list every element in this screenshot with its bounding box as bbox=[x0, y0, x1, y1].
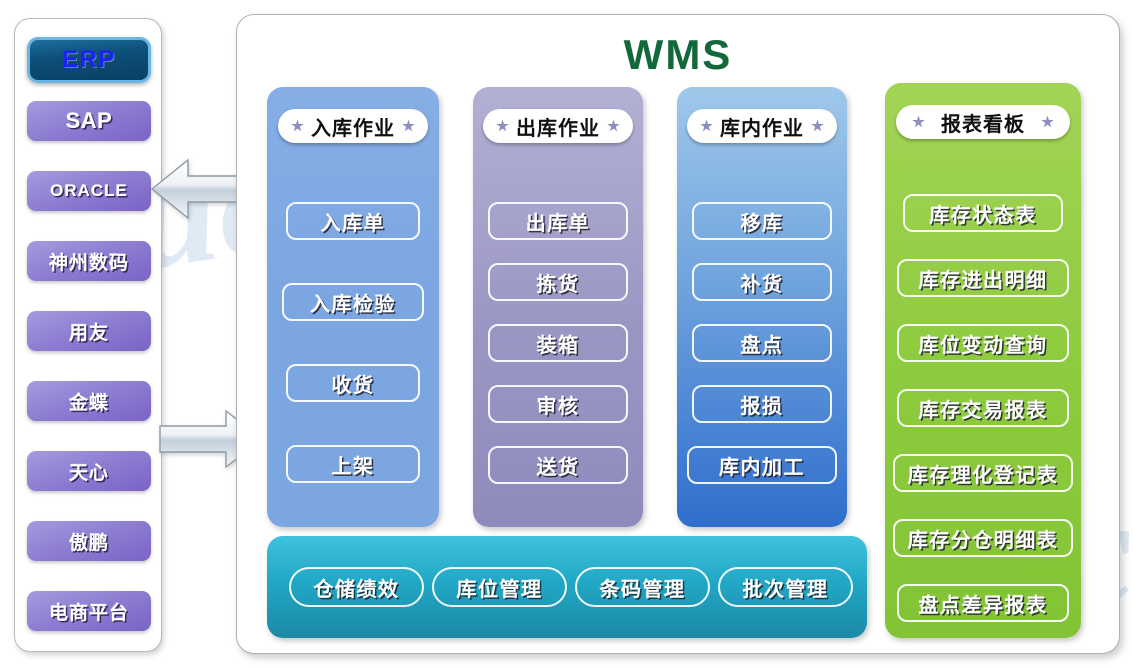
star-icon bbox=[912, 116, 925, 129]
panel-item-internal-0[interactable]: 移库 bbox=[692, 202, 832, 240]
panel-item-report-0[interactable]: 库存状态表 bbox=[903, 194, 1063, 232]
erp-item-2[interactable]: ORACLE bbox=[27, 171, 151, 211]
panel-outbound[interactable]: 出库作业 出库单 拣货 装箱 审核 送货 bbox=[473, 87, 643, 527]
wms-container: WMS 入库作业 入库单 入库检验 收货 上架 出库作业 出库单 拣货 装箱 审… bbox=[236, 14, 1120, 654]
erp-item-5[interactable]: 金蝶 bbox=[27, 381, 151, 421]
panel-item-outbound-1[interactable]: 拣货 bbox=[488, 263, 628, 301]
bottom-item-0[interactable]: 仓储绩效 bbox=[289, 567, 424, 607]
bottom-item-3[interactable]: 批次管理 bbox=[718, 567, 853, 607]
erp-item-4[interactable]: 用友 bbox=[27, 311, 151, 351]
panel-header-outbound: 出库作业 bbox=[483, 109, 633, 143]
panel-inbound[interactable]: 入库作业 入库单 入库检验 收货 上架 bbox=[267, 87, 439, 527]
bottom-item-2[interactable]: 条码管理 bbox=[575, 567, 710, 607]
panel-item-report-2[interactable]: 库位变动查询 bbox=[897, 324, 1069, 362]
erp-item-0[interactable]: ERP bbox=[27, 37, 151, 83]
panel-item-outbound-2[interactable]: 装箱 bbox=[488, 324, 628, 362]
panel-header-internal: 库内作业 bbox=[687, 109, 837, 143]
star-icon bbox=[607, 120, 620, 133]
panel-title: 出库作业 bbox=[516, 112, 600, 141]
erp-systems-list: ERPSAPORACLE神州数码用友金蝶天心傲鹏电商平台 bbox=[15, 19, 161, 651]
panel-header-report: 报表看板 bbox=[896, 105, 1070, 139]
star-icon bbox=[496, 120, 509, 133]
diagram-canvas: Kucky Kucky Kucky Kucky ERPSAPORACLE神州数码… bbox=[0, 0, 1133, 667]
erp-systems-panel: ERPSAPORACLE神州数码用友金蝶天心傲鹏电商平台 bbox=[14, 18, 162, 652]
star-icon bbox=[1041, 116, 1054, 129]
panel-item-inbound-1[interactable]: 入库检验 bbox=[282, 283, 424, 321]
panel-header-inbound: 入库作业 bbox=[278, 109, 428, 143]
panel-item-internal-2[interactable]: 盘点 bbox=[692, 324, 832, 362]
page-title: WMS bbox=[237, 31, 1119, 79]
star-icon bbox=[402, 120, 415, 133]
panel-item-outbound-3[interactable]: 审核 bbox=[488, 385, 628, 423]
panel-item-report-4[interactable]: 库存理化登记表 bbox=[893, 454, 1073, 492]
erp-item-7[interactable]: 傲鹏 bbox=[27, 521, 151, 561]
panel-item-report-6[interactable]: 盘点差异报表 bbox=[897, 584, 1069, 622]
panel-item-inbound-0[interactable]: 入库单 bbox=[286, 202, 420, 240]
management-bar: 仓储绩效 库位管理 条码管理 批次管理 bbox=[267, 536, 867, 638]
star-icon bbox=[291, 120, 304, 133]
panel-item-inbound-3[interactable]: 上架 bbox=[286, 445, 420, 483]
erp-item-8[interactable]: 电商平台 bbox=[27, 591, 151, 631]
erp-item-6[interactable]: 天心 bbox=[27, 451, 151, 491]
star-icon bbox=[700, 120, 713, 133]
panel-item-outbound-0[interactable]: 出库单 bbox=[488, 202, 628, 240]
panel-item-internal-1[interactable]: 补货 bbox=[692, 263, 832, 301]
panel-item-internal-3[interactable]: 报损 bbox=[692, 385, 832, 423]
panel-title: 报表看板 bbox=[941, 108, 1025, 137]
panel-item-internal-4[interactable]: 库内加工 bbox=[687, 446, 837, 484]
panel-report[interactable]: 报表看板 库存状态表 库存进出明细 库位变动查询 库存交易报表 库存理化登记表 … bbox=[885, 83, 1081, 638]
panel-title: 入库作业 bbox=[311, 112, 395, 141]
panel-item-inbound-2[interactable]: 收货 bbox=[286, 364, 420, 402]
erp-item-1[interactable]: SAP bbox=[27, 101, 151, 141]
panel-item-report-3[interactable]: 库存交易报表 bbox=[897, 389, 1069, 427]
star-icon bbox=[811, 120, 824, 133]
bottom-item-1[interactable]: 库位管理 bbox=[432, 567, 567, 607]
panel-item-report-1[interactable]: 库存进出明细 bbox=[897, 259, 1069, 297]
erp-item-3[interactable]: 神州数码 bbox=[27, 241, 151, 281]
panel-item-outbound-4[interactable]: 送货 bbox=[488, 446, 628, 484]
panel-item-report-5[interactable]: 库存分仓明细表 bbox=[893, 519, 1073, 557]
panel-title: 库内作业 bbox=[720, 112, 804, 141]
panel-internal[interactable]: 库内作业 移库 补货 盘点 报损 库内加工 bbox=[677, 87, 847, 527]
